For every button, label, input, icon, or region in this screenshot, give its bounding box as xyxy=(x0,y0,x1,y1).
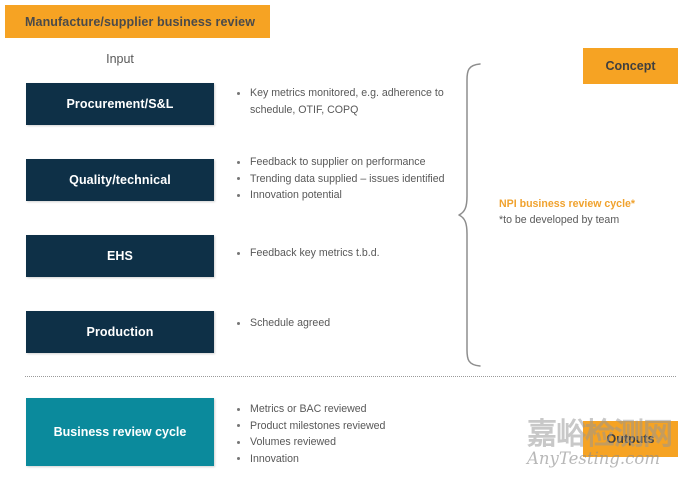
input-column-heading: Input xyxy=(26,52,214,66)
outputs-chip-label: Outputs xyxy=(607,432,655,446)
output-box-business-review-cycle[interactable]: Business review cycle xyxy=(26,398,214,466)
bullet-item: Volumes reviewed xyxy=(236,434,461,451)
stage-box-label: Quality/technical xyxy=(69,173,171,187)
bullet-group-quality-technical: Feedback to supplier on performance Tren… xyxy=(236,154,461,204)
bullet-group-procurement: Key metrics monitored, e.g. adherence to… xyxy=(236,85,461,118)
bullet-group-ehs: Feedback key metrics t.b.d. xyxy=(236,245,461,262)
brace-caption: NPI business review cycle* *to be develo… xyxy=(499,196,674,228)
curly-brace-icon xyxy=(458,62,488,368)
outputs-chip[interactable]: Outputs xyxy=(583,421,678,457)
stage-box-label: Procurement/S&L xyxy=(66,97,173,111)
concept-chip-label: Concept xyxy=(606,59,656,73)
bullet-item: Feedback key metrics t.b.d. xyxy=(236,245,461,262)
stage-box-label: EHS xyxy=(107,249,133,263)
bullet-item: Trending data supplied – issues identifi… xyxy=(236,171,461,188)
bullet-group-production: Schedule agreed xyxy=(236,315,461,332)
stage-box-production[interactable]: Production xyxy=(26,311,214,353)
concept-chip[interactable]: Concept xyxy=(583,48,678,84)
slide-canvas: Manufacture/supplier business review Inp… xyxy=(0,0,680,477)
output-box-label: Business review cycle xyxy=(54,425,187,439)
slide-title-text: Manufacture/supplier business review xyxy=(25,15,255,29)
stage-box-procurement[interactable]: Procurement/S&L xyxy=(26,83,214,125)
bullet-item: Innovation xyxy=(236,451,461,468)
bullet-item: Schedule agreed xyxy=(236,315,461,332)
brace-caption-main: NPI business review cycle* xyxy=(499,196,674,212)
bullet-item: Product milestones reviewed xyxy=(236,418,461,435)
bullet-item: Key metrics monitored, e.g. adherence to… xyxy=(236,85,461,118)
stage-box-label: Production xyxy=(87,325,154,339)
bullet-item: Feedback to supplier on performance xyxy=(236,154,461,171)
stage-box-quality-technical[interactable]: Quality/technical xyxy=(26,159,214,201)
brace-caption-footnote: *to be developed by team xyxy=(499,212,674,228)
stage-box-ehs[interactable]: EHS xyxy=(26,235,214,277)
bullet-item: Metrics or BAC reviewed xyxy=(236,401,461,418)
slide-title-banner: Manufacture/supplier business review xyxy=(5,5,270,38)
bullet-group-outputs: Metrics or BAC reviewed Product mileston… xyxy=(236,401,461,467)
section-divider xyxy=(25,376,676,377)
bullet-item: Innovation potential xyxy=(236,187,461,204)
